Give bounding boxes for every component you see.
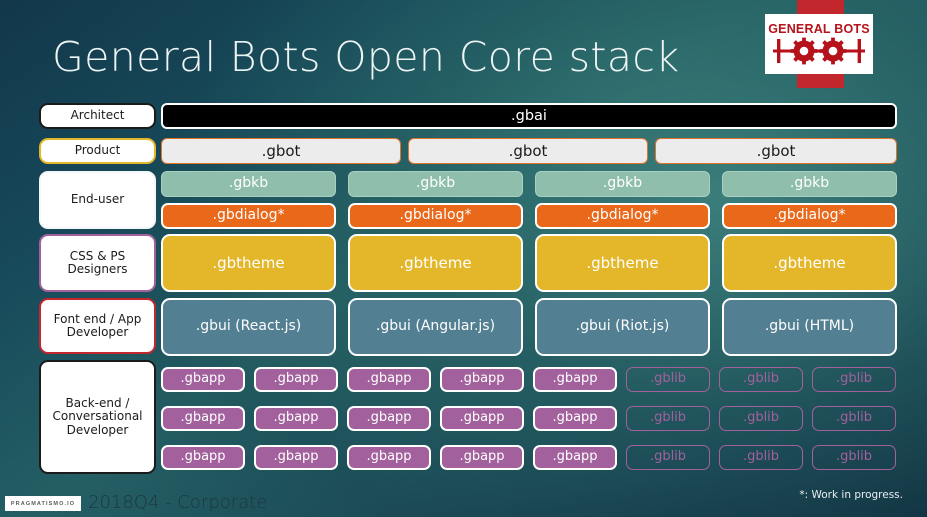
- layer-gbapp-r2c3[interactable]: .gbapp: [347, 406, 431, 431]
- layer-gbapp-r1c3[interactable]: .gbapp: [347, 367, 431, 392]
- gears-icon: [773, 37, 865, 65]
- role-label-css-ps-designers: CSS & PS Designers: [39, 234, 156, 292]
- page-title: General Bots Open Core stack: [52, 33, 680, 81]
- layer-gblib-r2c2[interactable]: .gblib: [719, 406, 803, 431]
- layer-gbkb-3[interactable]: .gbkb: [535, 171, 710, 197]
- layer-gbapp-r1c5[interactable]: .gbapp: [533, 367, 617, 392]
- layer-gbot-1[interactable]: .gbot: [161, 138, 401, 164]
- layer-gbtheme-2[interactable]: .gbtheme: [348, 234, 523, 292]
- layer-gblib-r1c1[interactable]: .gblib: [626, 367, 710, 392]
- layer-gblib-r2c1[interactable]: .gblib: [626, 406, 710, 431]
- general-bots-logo: GENERAL BOTS: [765, 14, 873, 74]
- layer-gbapp-r2c4[interactable]: .gbapp: [440, 406, 524, 431]
- layer-gbapp-r3c4[interactable]: .gbapp: [440, 445, 524, 470]
- layer-gbot-3[interactable]: .gbot: [655, 138, 897, 164]
- pragmatismo-logo: PRAGMATISMO.IO: [5, 496, 81, 511]
- layer-gbapp-r2c1[interactable]: .gbapp: [161, 406, 245, 431]
- layer-gblib-r1c2[interactable]: .gblib: [719, 367, 803, 392]
- role-label-product: Product: [39, 138, 156, 164]
- layer-gbkb-4[interactable]: .gbkb: [722, 171, 897, 197]
- layer-gblib-r1c3[interactable]: .gblib: [812, 367, 896, 392]
- layer-gbdialog-2[interactable]: .gbdialog*: [348, 203, 523, 229]
- layer-gblib-r3c1[interactable]: .gblib: [626, 445, 710, 470]
- layer-gbapp-r3c1[interactable]: .gbapp: [161, 445, 245, 470]
- layer-gbot-2[interactable]: .gbot: [408, 138, 648, 164]
- role-label-backend-conversational-developer: Back-end / Conversational Developer: [39, 360, 156, 474]
- layer-gbkb-2[interactable]: .gbkb: [348, 171, 523, 197]
- layer-gbapp-r1c1[interactable]: .gbapp: [161, 367, 245, 392]
- layer-gblib-r3c3[interactable]: .gblib: [812, 445, 896, 470]
- footnote-work-in-progress: *: Work in progress.: [799, 489, 903, 501]
- layer-gbtheme-3[interactable]: .gbtheme: [535, 234, 710, 292]
- slide-canvas: GENERAL BOTS: [0, 0, 927, 517]
- layer-gbapp-r3c5[interactable]: .gbapp: [533, 445, 617, 470]
- layer-gbtheme-1[interactable]: .gbtheme: [161, 234, 336, 292]
- layer-gbdialog-1[interactable]: .gbdialog*: [161, 203, 336, 229]
- layer-gbapp-r2c5[interactable]: .gbapp: [533, 406, 617, 431]
- role-label-frontend-app-developer: Font end / App Developer: [39, 298, 156, 354]
- layer-gbapp-r1c2[interactable]: .gbapp: [254, 367, 338, 392]
- layer-gbapp-r3c2[interactable]: .gbapp: [254, 445, 338, 470]
- layer-gbkb-1[interactable]: .gbkb: [161, 171, 336, 197]
- logo-wordmark: GENERAL BOTS: [768, 23, 870, 36]
- layer-gbai[interactable]: .gbai: [161, 103, 897, 129]
- layer-gbapp-r2c2[interactable]: .gbapp: [254, 406, 338, 431]
- layer-gbui-react[interactable]: .gbui (React.js): [161, 298, 336, 356]
- layer-gbui-angular[interactable]: .gbui (Angular.js): [348, 298, 523, 356]
- footer-label: 2018Q4 - Corporate: [88, 492, 267, 513]
- layer-gblib-r2c3[interactable]: .gblib: [812, 406, 896, 431]
- role-label-end-user: End-user: [39, 171, 156, 229]
- layer-gbui-html[interactable]: .gbui (HTML): [722, 298, 897, 356]
- layer-gbui-riot[interactable]: .gbui (Riot.js): [535, 298, 710, 356]
- layer-gbdialog-3[interactable]: .gbdialog*: [535, 203, 710, 229]
- pragmatismo-wordmark: PRAGMATISMO.IO: [11, 501, 75, 507]
- role-label-architect: Architect: [39, 103, 156, 129]
- layer-gbtheme-4[interactable]: .gbtheme: [722, 234, 897, 292]
- layer-gbapp-r1c4[interactable]: .gbapp: [440, 367, 524, 392]
- layer-gbapp-r3c3[interactable]: .gbapp: [347, 445, 431, 470]
- layer-gbdialog-4[interactable]: .gbdialog*: [722, 203, 897, 229]
- layer-gblib-r3c2[interactable]: .gblib: [719, 445, 803, 470]
